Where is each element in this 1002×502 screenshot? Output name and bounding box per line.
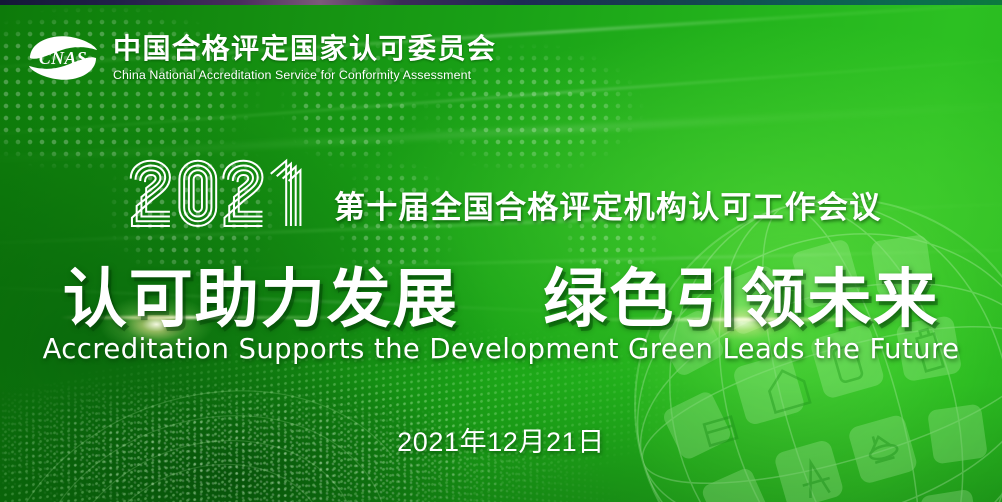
event-date: 2021年12月21日: [0, 420, 1002, 459]
top-gradient-strip: [0, 0, 1002, 5]
svg-text:CNAS: CNAS: [39, 48, 87, 68]
hero-title-row: 第十届全国合格评定机构认可工作会议: [126, 156, 881, 232]
main-slogan: 认可助力发展 绿色引领未来: [0, 248, 1002, 340]
org-name-en: China National Accreditation Service for…: [113, 68, 497, 82]
year-2021: [126, 156, 304, 232]
slogan-part-1: 认可助力发展: [63, 263, 459, 337]
cnas-lens-logo-icon: CNAS: [26, 33, 100, 83]
conference-banner: CNAS 中国合格评定国家认可委员会 China National Accred…: [0, 0, 1002, 502]
conference-title: 第十届全国合格评定机构认可工作会议: [334, 182, 881, 227]
slogan-english: Accreditation Supports the Development G…: [0, 333, 1002, 365]
org-name-cn: 中国合格评定国家认可委员会: [113, 34, 497, 64]
slogan-part-2: 绿色引领未来: [543, 263, 939, 337]
cnas-header: CNAS 中国合格评定国家认可委员会 China National Accred…: [26, 33, 497, 83]
